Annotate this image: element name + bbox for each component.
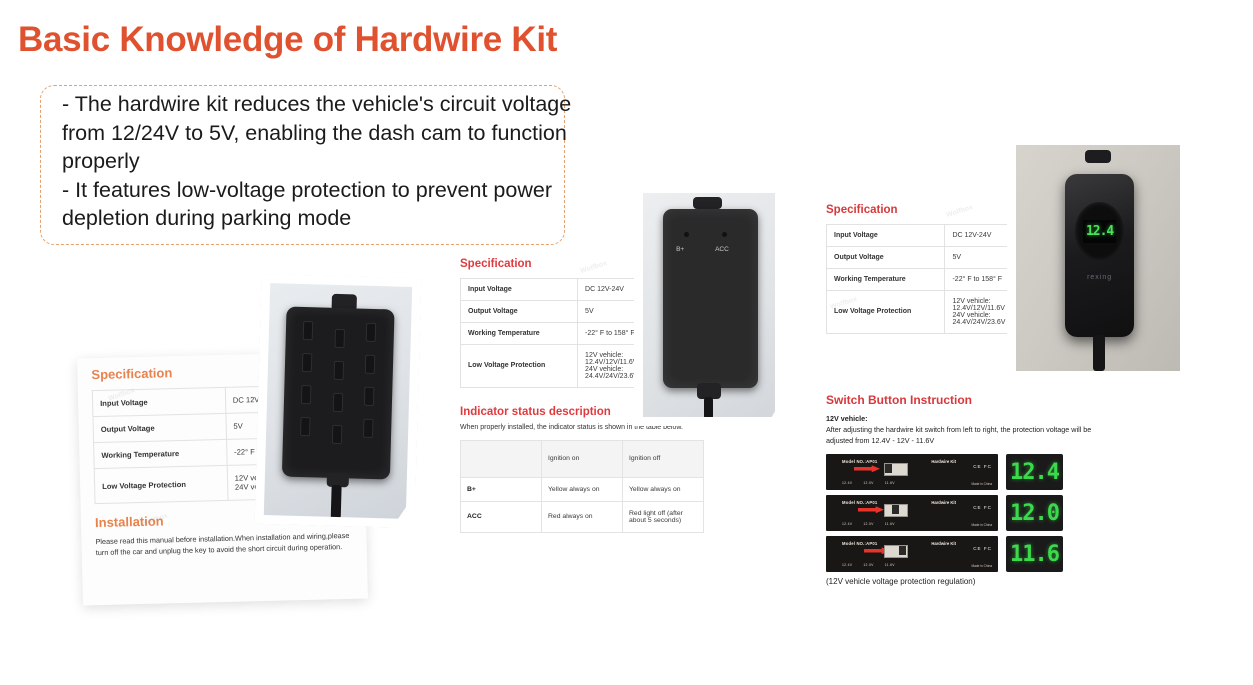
col-header-ignition-off: Ignition off bbox=[623, 440, 704, 477]
cell-ignition-on: Red always on bbox=[542, 501, 623, 532]
indicator-status-table: Ignition on Ignition off B+ Yellow alway… bbox=[460, 440, 704, 533]
voltage-display: 12.4 bbox=[1083, 220, 1117, 243]
label-product-text: Hardwire Kit bbox=[931, 500, 956, 505]
photo-background: 12.4 rexing bbox=[1016, 145, 1180, 371]
hardwire-kit-photo-left bbox=[255, 274, 422, 528]
spec-key: Input Voltage bbox=[92, 388, 225, 417]
row-label-acc: ACC bbox=[461, 501, 542, 532]
photo-background bbox=[264, 283, 412, 519]
bullet-item-2: - It features low-voltage protection to … bbox=[62, 176, 582, 233]
switch-rows-list: Model NO.:AP01 Hardwire Kit CE FC 12.4V1… bbox=[826, 454, 1126, 572]
switch-vehicle-line: 12V vehicle: bbox=[826, 413, 1126, 424]
device-body bbox=[282, 307, 395, 479]
label-made-in: Made in China bbox=[971, 523, 992, 527]
table-row: Input Voltage DC 12V-24V bbox=[827, 224, 1026, 246]
photo-background: B+ ACC bbox=[643, 193, 775, 417]
cell-ignition-off: Red light off (after about 5 seconds) bbox=[623, 501, 704, 532]
label-made-in: Made in China bbox=[971, 564, 992, 568]
spec-key: Low Voltage Protection bbox=[827, 290, 945, 333]
spec-key: Low Voltage Protection bbox=[94, 466, 228, 504]
col-header-blank bbox=[461, 440, 542, 477]
dip-switch-nub bbox=[892, 505, 899, 514]
label-model-text: Model NO.:AP01 bbox=[842, 459, 877, 464]
cable-grommet-icon bbox=[1085, 150, 1111, 164]
table-row: B+ Yellow always on Yellow always on bbox=[461, 477, 704, 501]
power-cable bbox=[704, 397, 713, 417]
right-spec-block: Wolfbox Wolfbox Specification Input Volt… bbox=[826, 204, 1031, 386]
device-label-bplus: B+ bbox=[676, 246, 684, 253]
label-voltage-row: 12.4V12.0V11.6V bbox=[842, 522, 906, 526]
table-row: Output Voltage 5V bbox=[827, 246, 1026, 268]
switch-row: Model NO.:AP01 Hardwire Kit CE FC 12.4V1… bbox=[826, 495, 1126, 531]
bullet-item-1: - The hardwire kit reduces the vehicle's… bbox=[62, 90, 582, 176]
display-dial: 12.4 bbox=[1075, 202, 1125, 261]
page-title: Basic Knowledge of Hardwire Kit bbox=[18, 20, 557, 60]
hardwire-kit-photo-mid: B+ ACC bbox=[634, 184, 784, 426]
right-spec-table: Input Voltage DC 12V-24V Output Voltage … bbox=[826, 224, 1026, 334]
led-display: 12.4 bbox=[1006, 454, 1063, 490]
row-label-bplus: B+ bbox=[461, 477, 542, 501]
spec-key: Input Voltage bbox=[461, 278, 578, 300]
label-product-text: Hardwire Kit bbox=[931, 541, 956, 546]
dip-switch-nub bbox=[885, 464, 892, 473]
product-label-photo: Model NO.:AP01 Hardwire Kit CE FC 12.4V1… bbox=[826, 495, 998, 531]
spec-key: Output Voltage bbox=[461, 300, 578, 322]
certification-marks: CE FC bbox=[973, 505, 992, 510]
label-model-text: Model NO.:AP01 bbox=[842, 500, 877, 505]
red-arrow-icon bbox=[858, 506, 884, 513]
spec-key: Output Voltage bbox=[93, 414, 226, 443]
product-label-photo: Model NO.:AP01 Hardwire Kit CE FC 12.4V1… bbox=[826, 536, 998, 572]
table-row: Working Temperature -22° F to 158° F bbox=[827, 268, 1026, 290]
table-header-row: Ignition on Ignition off bbox=[461, 440, 704, 477]
device-body: 12.4 rexing bbox=[1065, 174, 1134, 337]
device-label-acc: ACC bbox=[715, 246, 729, 253]
product-label-photo: Model NO.:AP01 Hardwire Kit CE FC 12.4V1… bbox=[826, 454, 998, 490]
col-header-ignition-on: Ignition on bbox=[542, 440, 623, 477]
label-voltage-row: 12.4V12.0V11.6V bbox=[842, 563, 906, 567]
spec-key: Working Temperature bbox=[94, 440, 227, 469]
switch-description: After adjusting the hardwire kit switch … bbox=[826, 424, 1106, 446]
switch-row: Model NO.:AP01 Hardwire Kit CE FC 12.4V1… bbox=[826, 454, 1126, 490]
switch-caption: (12V vehicle voltage protection regulati… bbox=[826, 577, 1126, 586]
spec-key: Working Temperature bbox=[461, 322, 578, 344]
led-display: 11.6 bbox=[1006, 536, 1063, 572]
hardwire-kit-photo-right: 12.4 rexing bbox=[1007, 136, 1189, 380]
power-cable bbox=[1093, 335, 1104, 371]
dip-switch-nub bbox=[899, 546, 906, 555]
certification-marks: CE FC bbox=[973, 546, 992, 551]
switch-button-instruction-section: Switch Button Instruction 12V vehicle: A… bbox=[826, 394, 1126, 586]
cell-ignition-on: Yellow always on bbox=[542, 477, 623, 501]
brand-logo: rexing bbox=[1065, 274, 1134, 281]
right-specification-heading: Specification bbox=[826, 204, 1031, 217]
led-display: 12.0 bbox=[1006, 495, 1063, 531]
table-row: ACC Red always on Red light off (after a… bbox=[461, 501, 704, 532]
led-indicator-bplus bbox=[684, 232, 689, 237]
switch-row: Model NO.:AP01 Hardwire Kit CE FC 12.4V1… bbox=[826, 536, 1126, 572]
bullet-list: - The hardwire kit reduces the vehicle's… bbox=[62, 90, 582, 233]
led-indicator-acc bbox=[722, 232, 727, 237]
certification-marks: CE FC bbox=[973, 464, 992, 469]
spec-key: Working Temperature bbox=[827, 268, 945, 290]
table-row: Low Voltage Protection 12V vehicle: 12.4… bbox=[827, 290, 1026, 333]
cable-grommet-icon bbox=[693, 197, 722, 208]
red-arrow-icon bbox=[854, 465, 880, 472]
switch-button-heading: Switch Button Instruction bbox=[826, 394, 1126, 407]
label-made-in: Made in China bbox=[971, 482, 992, 486]
spec-key: Low Voltage Protection bbox=[461, 344, 578, 387]
cell-ignition-off: Yellow always on bbox=[623, 477, 704, 501]
label-product-text: Hardwire Kit bbox=[931, 459, 956, 464]
label-voltage-row: 12.4V12.0V11.6V bbox=[842, 481, 906, 485]
power-cable bbox=[330, 484, 341, 519]
device-body: B+ ACC bbox=[663, 209, 758, 388]
spec-key: Input Voltage bbox=[827, 224, 945, 246]
spec-key: Output Voltage bbox=[827, 246, 945, 268]
label-model-text: Model NO.:AP01 bbox=[842, 541, 877, 546]
